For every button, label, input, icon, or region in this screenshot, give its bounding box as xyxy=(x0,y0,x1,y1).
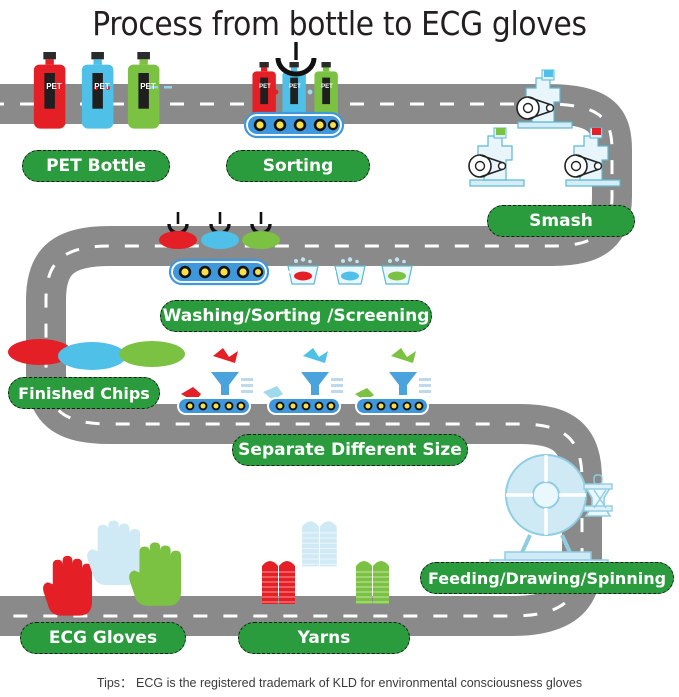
stage-badge-smash[interactable]: Smash xyxy=(487,205,635,237)
pet-label-bottle-1: PET xyxy=(42,82,66,91)
infographic-canvas: .rd{fill:none;stroke:#8a8a8a;stroke-widt… xyxy=(0,0,679,697)
stage-badge-yarns[interactable]: Yarns xyxy=(238,622,410,654)
stage-badge-ecg-gloves[interactable]: ECG Gloves xyxy=(20,622,186,654)
pet-label-bottle-5: PET xyxy=(286,84,304,90)
pet-label-bottle-3: PET xyxy=(136,82,160,91)
tips-note: Tips： ECG is the registered trademark of… xyxy=(0,672,679,691)
pet-label-bottle-6: PET xyxy=(318,84,336,90)
stage-badge-sorting[interactable]: Sorting xyxy=(226,150,370,182)
stage-badge-feeding-drawing-spinning[interactable]: Feeding/Drawing/Spinning xyxy=(420,562,674,594)
pet-label-bottle-4: PET xyxy=(256,84,274,90)
stage-badge-finished-chips[interactable]: Finished Chips xyxy=(8,377,160,409)
pet-label-bottle-2: PET xyxy=(90,82,114,91)
stage-badge-separate-size[interactable]: Separate Different Size xyxy=(232,434,468,466)
stage-badge-pet-bottle[interactable]: PET Bottle xyxy=(22,150,170,182)
page-title: Process from bottle to ECG gloves xyxy=(0,4,679,43)
stage-badge-washing[interactable]: Washing/Sorting /Screening xyxy=(160,300,432,332)
